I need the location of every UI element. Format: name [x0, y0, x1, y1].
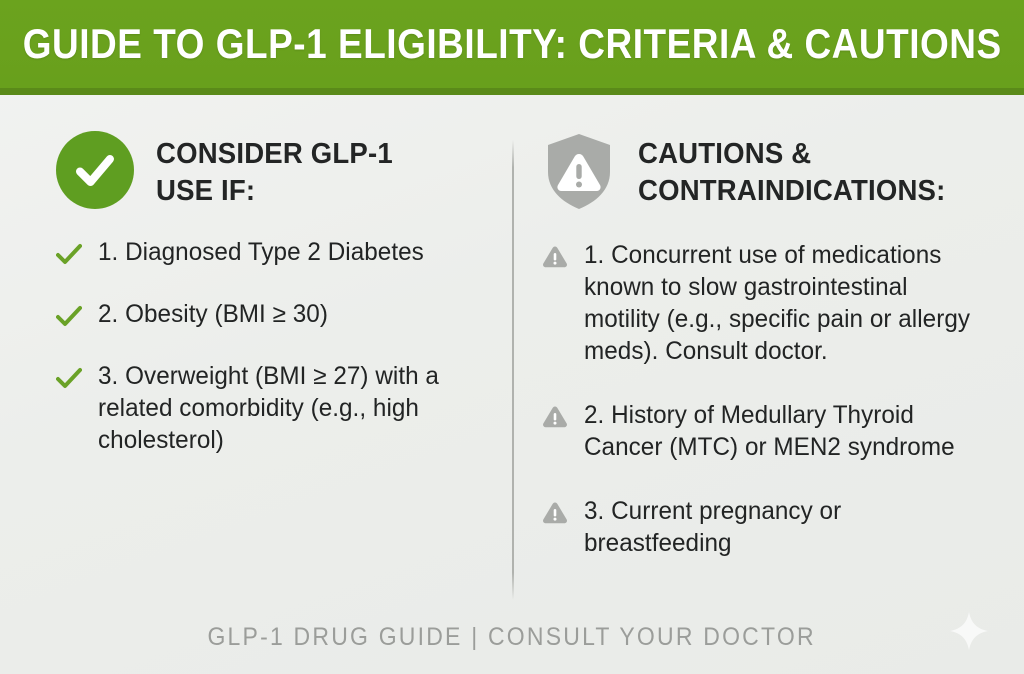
consider-use-list: 1. Diagnosed Type 2 Diabetes 2. Obesity …: [56, 236, 496, 456]
list-item: 1. Diagnosed Type 2 Diabetes: [56, 236, 496, 268]
page-title: GUIDE TO GLP-1 ELIGIBILITY: CRITERIA & C…: [23, 20, 1002, 68]
header-banner: GUIDE TO GLP-1 ELIGIBILITY: CRITERIA & C…: [0, 0, 1024, 88]
right-column-title: CAUTIONS & CONTRAINDICATIONS:: [638, 131, 945, 210]
check-icon: [56, 303, 82, 329]
list-item-text: 1. Diagnosed Type 2 Diabetes: [98, 236, 424, 268]
check-circle-icon: [56, 131, 134, 209]
left-column-header: CONSIDER GLP-1 USE IF:: [56, 95, 496, 210]
warning-triangle-icon: [542, 244, 568, 270]
footer-text: GLP-1 DRUG GUIDE | CONSULT YOUR DOCTOR: [208, 623, 816, 652]
right-column-title-line2: CONTRAINDICATIONS:: [638, 173, 945, 210]
shield-warning-icon: [542, 131, 616, 213]
right-column-header: CAUTIONS & CONTRAINDICATIONS:: [542, 95, 1004, 213]
list-item-text: 1. Concurrent use of medications known t…: [584, 239, 972, 367]
list-item-text: 3. Current pregnancy or breastfeeding: [584, 495, 972, 559]
list-item: 3. Current pregnancy or breastfeeding: [542, 495, 1004, 559]
left-column-title: CONSIDER GLP-1 USE IF:: [156, 131, 393, 210]
warning-triangle-icon: [542, 500, 568, 526]
list-item: 2. Obesity (BMI ≥ 30): [56, 298, 496, 330]
list-item-text: 2. History of Medullary Thyroid Cancer (…: [584, 399, 972, 463]
check-icon: [56, 365, 82, 391]
list-item-text: 3. Overweight (BMI ≥ 27) with a related …: [98, 360, 447, 456]
content-columns: CONSIDER GLP-1 USE IF: 1. Diagnosed Type…: [0, 95, 1024, 674]
infographic-root: GUIDE TO GLP-1 ELIGIBILITY: CRITERIA & C…: [0, 0, 1024, 674]
list-item-text: 2. Obesity (BMI ≥ 30): [98, 298, 328, 330]
list-item: 3. Overweight (BMI ≥ 27) with a related …: [56, 360, 496, 456]
column-cautions: CAUTIONS & CONTRAINDICATIONS: 1. Concurr…: [542, 95, 1004, 591]
right-column-title-line1: CAUTIONS &: [638, 136, 945, 173]
list-item: 1. Concurrent use of medications known t…: [542, 239, 1004, 367]
warning-triangle-icon: [542, 404, 568, 430]
cautions-list: 1. Concurrent use of medications known t…: [542, 239, 1004, 559]
column-consider-use: CONSIDER GLP-1 USE IF: 1. Diagnosed Type…: [56, 95, 496, 486]
left-column-title-line1: CONSIDER GLP-1: [156, 136, 393, 173]
list-item: 2. History of Medullary Thyroid Cancer (…: [542, 399, 1004, 463]
left-column-title-line2: USE IF:: [156, 173, 393, 210]
column-divider: [512, 140, 514, 600]
header-bottom-accent: [0, 88, 1024, 95]
sparkle-icon: [947, 609, 991, 653]
footer: GLP-1 DRUG GUIDE | CONSULT YOUR DOCTOR: [0, 623, 1024, 652]
check-icon: [56, 241, 82, 267]
